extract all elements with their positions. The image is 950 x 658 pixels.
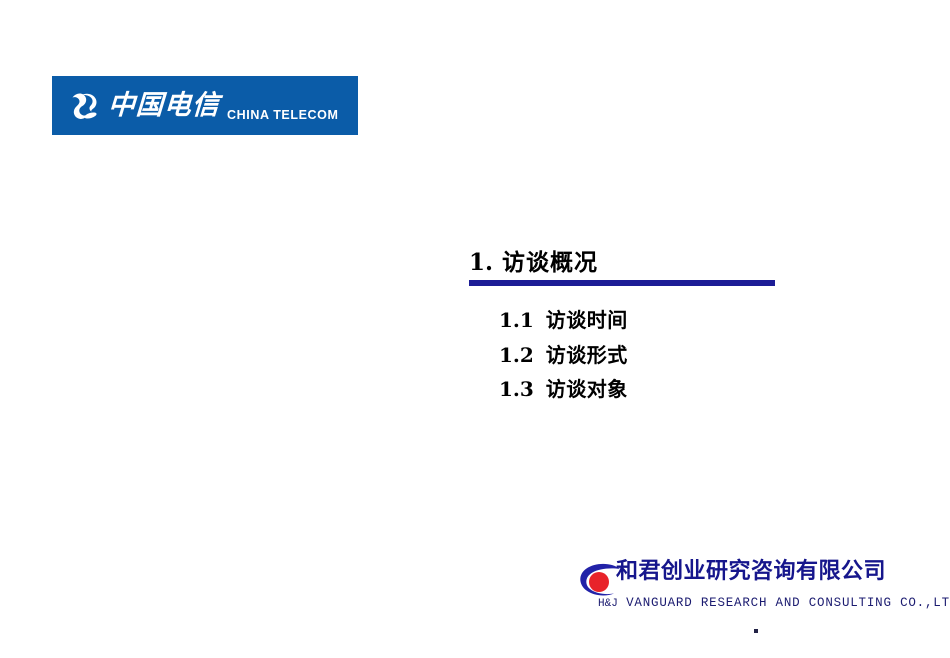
section-title-text: 访谈概况 <box>502 249 598 276</box>
china-telecom-chinese-name: 中国电信 <box>107 92 220 119</box>
agenda-item-2[interactable]: 1.2访谈形式 <box>499 338 889 372</box>
hj-vanguard-english-text: VANGUARD RESEARCH AND CONSULTING CO.,LTD <box>626 596 950 610</box>
page-marker-dot <box>754 629 758 633</box>
agenda-item-3[interactable]: 1.3访谈对象 <box>499 372 889 406</box>
agenda-item-list: 1.1访谈时间 1.2访谈形式 1.3访谈对象 <box>499 303 889 406</box>
china-telecom-english-name: CHINA TELECOM <box>227 108 339 123</box>
slide-canvas: 中国电信 CHINA TELECOM 1.访谈概况 1.1访谈时间 1.2访谈形… <box>0 0 950 658</box>
agenda-item-3-label: 访谈对象 <box>546 377 628 401</box>
hj-vanguard-logo: 和君创业研究咨询有限公司 H&J VANGUARD RESEARCH AND C… <box>576 558 926 616</box>
china-telecom-logo: 中国电信 CHINA TELECOM <box>52 76 358 135</box>
agenda-item-2-label: 访谈形式 <box>546 343 628 367</box>
china-telecom-swoosh-icon <box>66 88 102 124</box>
agenda-item-3-number: 1.3 <box>499 377 534 401</box>
agenda-item-1[interactable]: 1.1访谈时间 <box>499 303 889 337</box>
section-number: 1. <box>469 249 493 276</box>
agenda-item-1-label: 访谈时间 <box>546 308 628 332</box>
hj-vanguard-initials: H&J <box>598 598 618 610</box>
hj-vanguard-english-name: H&J VANGUARD RESEARCH AND CONSULTING CO.… <box>598 597 950 611</box>
agenda-item-2-number: 1.2 <box>499 343 534 367</box>
hj-vanguard-chinese-name: 和君创业研究咨询有限公司 <box>616 558 886 584</box>
page-title: 1.访谈概况 <box>469 250 889 276</box>
title-underline-rule <box>469 280 775 286</box>
agenda-block: 1.访谈概况 1.1访谈时间 1.2访谈形式 1.3访谈对象 <box>469 250 889 407</box>
agenda-item-1-number: 1.1 <box>499 308 534 332</box>
